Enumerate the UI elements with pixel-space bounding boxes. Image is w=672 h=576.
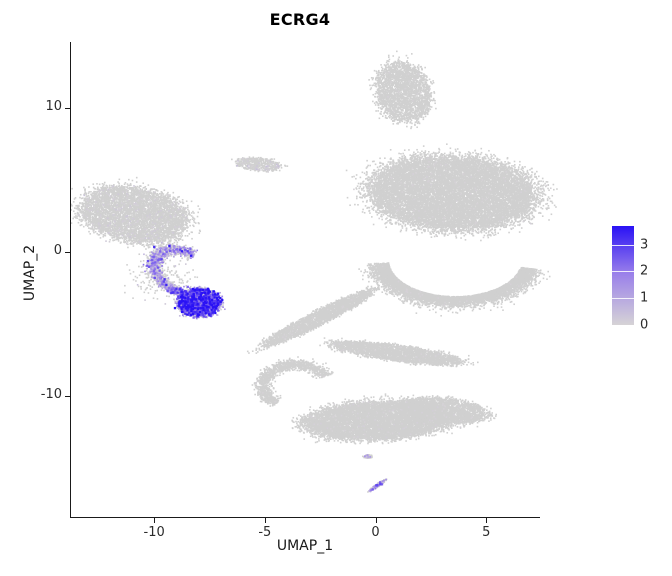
y-axis-spine — [70, 42, 71, 518]
colorbar-tick-mark — [612, 245, 634, 246]
y-tick-mark — [65, 252, 70, 253]
x-axis-spine — [70, 517, 540, 518]
colorbar-gradient[interactable] — [612, 226, 634, 325]
colorbar-tick-mark — [612, 298, 634, 299]
colorbar-tick-label: 2 — [640, 264, 648, 279]
x-tick-mark — [154, 518, 155, 523]
scatter-canvas[interactable] — [70, 42, 566, 517]
colorbar-tick-mark — [612, 271, 634, 272]
y-axis-label: UMAP_2 — [22, 173, 38, 373]
y-tick-label: 10 — [45, 99, 62, 114]
page-title: ECRG4 — [0, 10, 600, 29]
x-axis-label: UMAP_1 — [0, 538, 610, 554]
x-tick-mark — [265, 518, 266, 523]
colorbar-tick-label: 3 — [640, 237, 648, 252]
x-tick-mark — [376, 518, 377, 523]
y-tick-label: -10 — [41, 387, 62, 402]
x-tick-mark — [486, 518, 487, 523]
colorbar-tick-label: 0 — [640, 318, 648, 333]
plot-area[interactable] — [70, 42, 566, 517]
colorbar-tick-label: 1 — [640, 291, 648, 306]
y-tick-mark — [65, 396, 70, 397]
colorbar-legend[interactable]: 0123 — [612, 226, 672, 336]
umap-feature-plot: ECRG4 100-10 -10-505 UMAP_1 UMAP_2 0123 — [0, 0, 672, 576]
y-tick-label: 0 — [54, 243, 62, 258]
y-tick-mark — [65, 108, 70, 109]
